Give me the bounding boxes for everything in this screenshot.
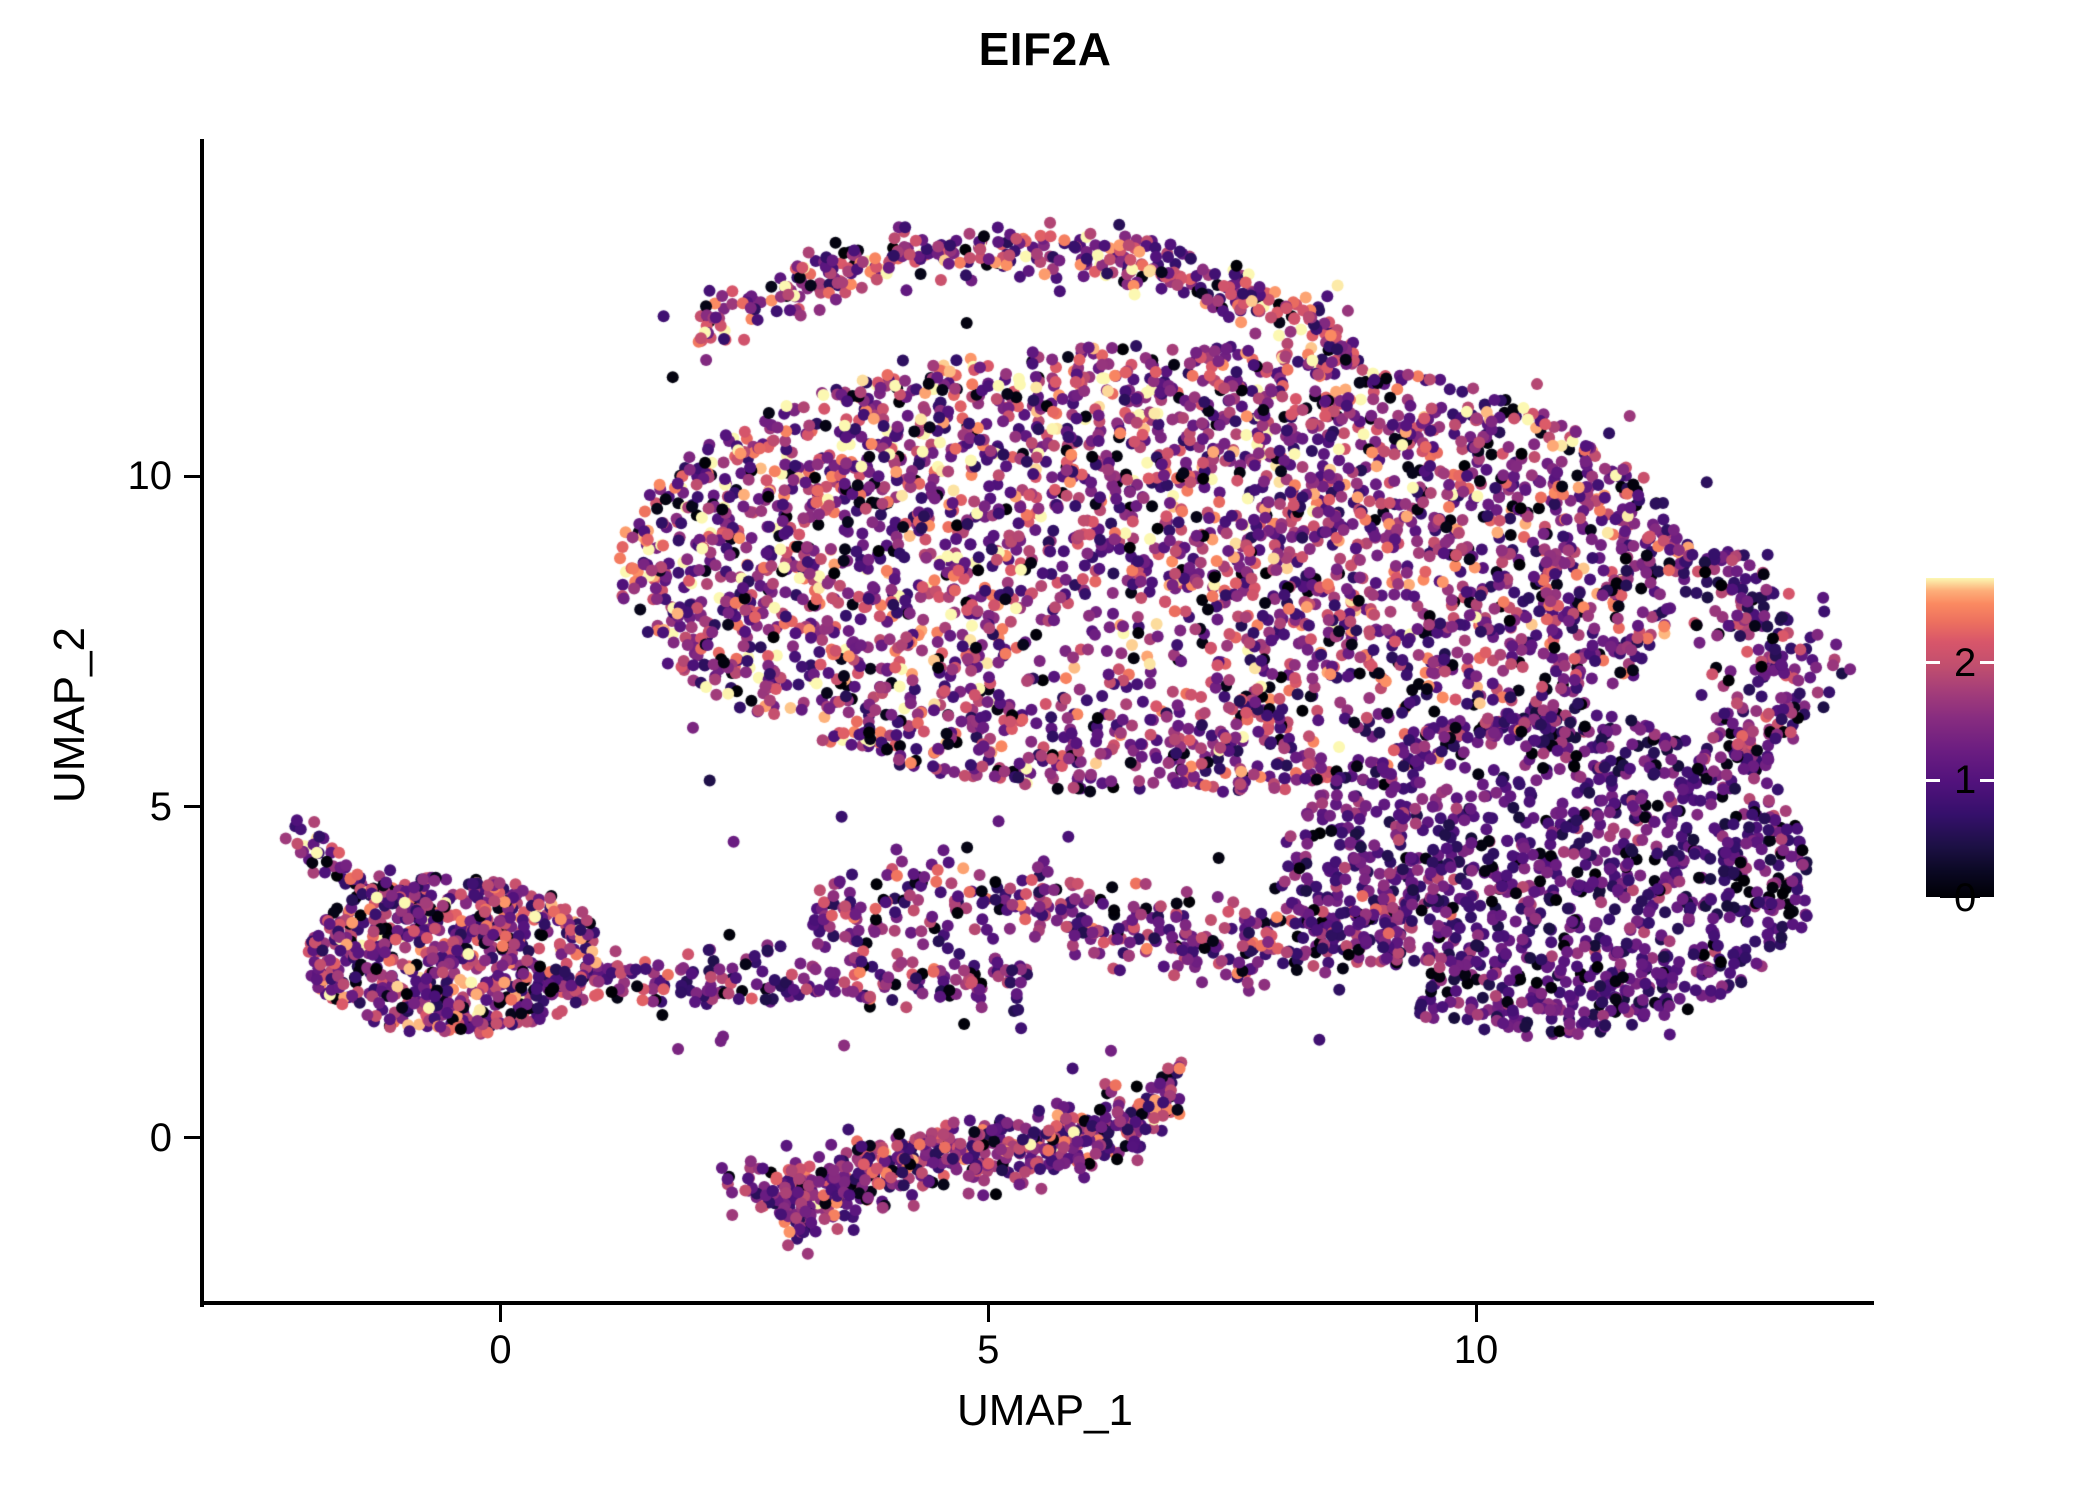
y-tick-mark-5 bbox=[184, 805, 201, 808]
x-tick-mark-5 bbox=[987, 1305, 990, 1322]
color-legend[interactable] bbox=[1926, 578, 1994, 898]
y-axis-line bbox=[200, 139, 204, 1307]
y-axis-title: UMAP_2 bbox=[45, 365, 95, 1065]
x-axis-line bbox=[200, 1301, 1874, 1305]
x-axis-title: UMAP_1 bbox=[203, 1386, 1887, 1436]
x-tick-mark-0 bbox=[499, 1305, 502, 1322]
legend-label-1: 1 bbox=[1926, 760, 2100, 800]
x-tick-label-0: 0 bbox=[441, 1330, 561, 1370]
y-tick-mark-10 bbox=[184, 475, 201, 478]
plot-title-container: EIF2A bbox=[203, 24, 1887, 75]
x-tick-label-10: 10 bbox=[1416, 1330, 1536, 1370]
y-tick-label-0: 0 bbox=[0, 1118, 172, 1158]
legend-label-2: 2 bbox=[1926, 643, 2100, 683]
x-tick-mark-10 bbox=[1475, 1305, 1478, 1322]
y-tick-mark-0 bbox=[184, 1136, 201, 1139]
umap-feature-plot: EIF2A 10 5 0 0 5 10 UMAP_1 UMAP_2 2 1 0 bbox=[0, 0, 2100, 1500]
x-tick-label-5: 5 bbox=[928, 1330, 1048, 1370]
scatter-plot-panel[interactable] bbox=[203, 139, 1874, 1303]
color-legend-gradient-bar bbox=[1926, 578, 1994, 898]
page-title: EIF2A bbox=[203, 24, 1887, 75]
scatter-canvas[interactable] bbox=[203, 139, 1874, 1303]
legend-label-0: 0 bbox=[1926, 878, 2100, 918]
